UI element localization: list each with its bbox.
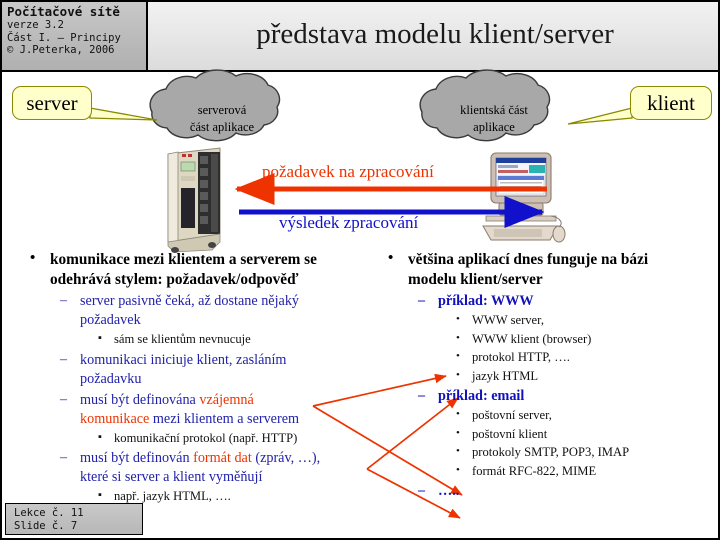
- left-item-4-highlight: formát dat: [193, 450, 252, 466]
- footer-lecture: Lekce č. 11: [14, 507, 142, 520]
- result-arrow-label: výsledek zpracování: [279, 213, 418, 233]
- right-item-2-sub-2: • poštovní klient: [368, 426, 716, 444]
- right-item-1-sub-3-text: protokol HTTP, ….: [472, 350, 570, 364]
- bullet-marker-dot: •: [456, 348, 460, 366]
- bullet-marker-dash: –: [60, 291, 67, 310]
- left-item-3-highlight-2: komunikace: [80, 411, 149, 427]
- right-item-2-sub-2-text: poštovní klient: [472, 427, 547, 441]
- bullet-marker-square: ▪: [98, 429, 102, 447]
- server-callout-label: server: [12, 86, 92, 120]
- bullet-marker-square: ▪: [98, 487, 102, 505]
- left-bullet-1-line1: komunikace mezi klientem a serverem se: [50, 251, 317, 268]
- client-cloud-line1: klientská část: [424, 102, 564, 119]
- right-item-3: – …..: [368, 482, 716, 501]
- server-callout-tail: [90, 108, 157, 120]
- right-item-2-sub-4-text: formát RFC-822, MIME: [472, 464, 596, 478]
- right-item-1-sub-2: • WWW klient (browser): [368, 331, 716, 349]
- right-item-2-sub-1: • poštovní server,: [368, 407, 716, 425]
- left-item-4-sub-1-text: např. jazyk HTML, ….: [114, 489, 231, 503]
- left-item-3-prefix: musí být definována: [80, 392, 199, 408]
- server-cloud-line1: serverová: [152, 102, 292, 119]
- right-item-2: – příklad: email: [368, 387, 716, 406]
- right-bullet-1-line1: většina aplikací dnes funguje na bázi: [408, 251, 648, 268]
- left-item-1-line2: požadavek: [80, 312, 141, 328]
- client-cloud-text: klientská část aplikace: [424, 102, 564, 136]
- right-item-2-sub-1-text: poštovní server,: [472, 408, 552, 422]
- left-item-1-sub-1-text: sám se klientům nevnucuje: [114, 332, 251, 346]
- bullet-marker-dash: –: [60, 350, 67, 369]
- left-item-2: – komunikaci iniciuje klient, zasláním p…: [10, 351, 366, 389]
- slide-canvas: Počítačové sítě verze 3.2 Část I. – Prin…: [0, 0, 720, 540]
- page-title: představa modelu klient/server: [152, 16, 718, 52]
- course-version: verze 3.2: [7, 19, 146, 32]
- right-item-1-sub-3: • protokol HTTP, ….: [368, 349, 716, 367]
- right-item-1-text: příklad: WWW: [438, 293, 534, 309]
- right-item-1-sub-4-text: jazyk HTML: [472, 369, 538, 383]
- bullet-marker-dash: –: [418, 291, 425, 310]
- right-item-1-sub-4: • jazyk HTML: [368, 368, 716, 386]
- server-cloud-line2: část aplikace: [152, 119, 292, 136]
- bullet-marker-dot: •: [456, 462, 460, 480]
- bullet-marker-dot: •: [30, 249, 35, 269]
- server-tower-icon: [168, 148, 220, 253]
- left-bullet-1-line2: odehrává stylem: požadavek/odpověď: [50, 271, 298, 288]
- course-part: Část I. – Principy: [7, 32, 146, 45]
- client-callout-tail: [568, 108, 632, 124]
- bullet-marker-dash: –: [60, 390, 67, 409]
- left-item-1-sub-1: ▪ sám se klientům nevnucuje: [10, 331, 366, 349]
- bullet-marker-dot: •: [388, 249, 393, 269]
- right-item-2-text: příklad: email: [438, 388, 524, 404]
- left-item-4: – musí být definován formát dat (zpráv, …: [10, 449, 366, 487]
- left-item-1: – server pasivně čeká, až dostane nějaký…: [10, 292, 366, 330]
- bullet-marker-dash: –: [418, 386, 425, 405]
- desktop-computer-icon: [483, 153, 565, 242]
- right-item-2-sub-4: • formát RFC-822, MIME: [368, 463, 716, 481]
- course-title: Počítačové sítě: [7, 5, 146, 19]
- right-item-3-text: …..: [438, 483, 459, 499]
- bullet-marker-dash: –: [418, 481, 425, 500]
- right-item-1-sub-1-text: WWW server,: [472, 313, 544, 327]
- left-item-3-highlight-1: vzájemná: [199, 392, 253, 408]
- bullet-marker-dot: •: [456, 367, 460, 385]
- bullet-marker-dot: •: [456, 330, 460, 348]
- left-item-1-line1: server pasivně čeká, až dostane nějaký: [80, 293, 299, 309]
- left-item-3-suffix: mezi klientem a serverem: [149, 411, 299, 427]
- right-item-2-sub-3: • protokoly SMTP, POP3, IMAP: [368, 444, 716, 462]
- course-info-box: Počítačové sítě verze 3.2 Část I. – Prin…: [2, 2, 148, 72]
- left-item-3-sub-1: ▪ komunikační protokol (např. HTTP): [10, 430, 366, 448]
- right-bullet-1: • většina aplikací dnes funguje na bázi …: [368, 250, 716, 289]
- right-bullet-1-line2: modelu klient/server: [408, 271, 543, 288]
- left-item-4-prefix: musí být definován: [80, 450, 193, 466]
- bullet-marker-dot: •: [456, 443, 460, 461]
- left-item-3: – musí být definována vzájemná komunikac…: [10, 391, 366, 429]
- request-arrow-label: požadavek na zpracování: [262, 162, 434, 182]
- slide-footer-tag: Lekce č. 11 Slide č. 7: [5, 503, 143, 535]
- right-item-2-sub-3-text: protokoly SMTP, POP3, IMAP: [472, 445, 629, 459]
- bullet-marker-dash: –: [60, 448, 67, 467]
- course-author: © J.Peterka, 2006: [7, 44, 146, 57]
- left-item-3-sub-1-text: komunikační protokol (např. HTTP): [114, 431, 297, 445]
- left-bullet-column: • komunikace mezi klientem a serverem se…: [10, 250, 366, 507]
- client-cloud-line2: aplikace: [424, 119, 564, 136]
- right-bullet-column: • většina aplikací dnes funguje na bázi …: [368, 250, 716, 502]
- left-item-2-line1: komunikaci iniciuje klient, zasláním: [80, 352, 286, 368]
- right-item-1: – příklad: WWW: [368, 292, 716, 311]
- right-item-1-sub-1: • WWW server,: [368, 312, 716, 330]
- left-item-2-line2: požadavku: [80, 371, 141, 387]
- footer-slide: Slide č. 7: [14, 520, 142, 533]
- bullet-marker-dot: •: [456, 311, 460, 329]
- right-item-1-sub-2-text: WWW klient (browser): [472, 332, 591, 346]
- left-item-4-suffix: (zpráv, …),: [252, 450, 320, 466]
- left-item-4-line2: které si server a klient vyměňují: [80, 469, 262, 485]
- server-cloud-text: serverová část aplikace: [152, 102, 292, 136]
- client-callout-label: klient: [630, 86, 712, 120]
- bullet-marker-dot: •: [456, 406, 460, 424]
- bullet-marker-square: ▪: [98, 330, 102, 348]
- bullet-marker-dot: •: [456, 425, 460, 443]
- left-bullet-1: • komunikace mezi klientem a serverem se…: [10, 250, 366, 289]
